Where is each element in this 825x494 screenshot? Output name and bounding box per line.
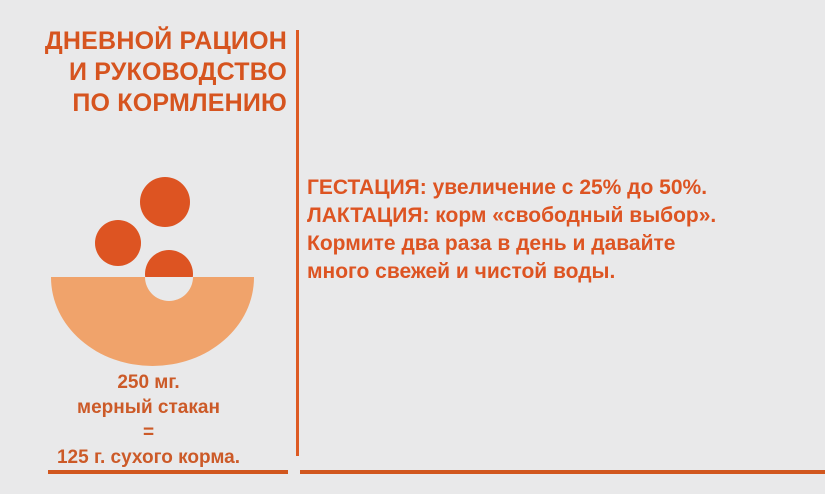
page-title-line-1: ДНЕВНОЙ РАЦИОН [10, 26, 287, 57]
guideline-line-gestation: ГЕСТАЦИЯ: увеличение с 25% до 50%. [307, 174, 807, 202]
page-title: ДНЕВНОЙ РАЦИОН И РУКОВОДСТВО ПО КОРМЛЕНИ… [10, 26, 287, 119]
page-title-line-2: И РУКОВОДСТВО [10, 57, 287, 88]
measure-caption-line-1: 250 мг. [10, 370, 287, 395]
bottom-rule-right [300, 470, 825, 474]
bottom-rule-left [48, 470, 288, 474]
slide-canvas: ДНЕВНОЙ РАЦИОН И РУКОВОДСТВО ПО КОРМЛЕНИ… [0, 0, 825, 494]
guideline-line-lactation: ЛАКТАЦИЯ: корм «свободный выбор». [307, 202, 807, 230]
measure-caption: 250 мг. мерный стакан = 125 г. сухого ко… [10, 370, 287, 470]
guideline-line-water: много свежей и чистой воды. [307, 258, 807, 286]
measure-caption-line-2: мерный стакан [10, 395, 287, 420]
measure-caption-line-4: 125 г. сухого корма. [10, 445, 287, 470]
food-bowl-illustration [51, 170, 254, 366]
guideline-line-frequency: Кормите два раза в день и давайте [307, 230, 807, 258]
kibble-top-icon [140, 177, 190, 227]
feeding-guidelines-text: ГЕСТАЦИЯ: увеличение с 25% до 50%. ЛАКТА… [307, 174, 807, 286]
measure-caption-line-3: = [10, 420, 287, 445]
page-title-line-3: ПО КОРМЛЕНИЮ [10, 88, 287, 119]
kibble-left-icon [95, 220, 141, 266]
vertical-divider [296, 30, 299, 456]
